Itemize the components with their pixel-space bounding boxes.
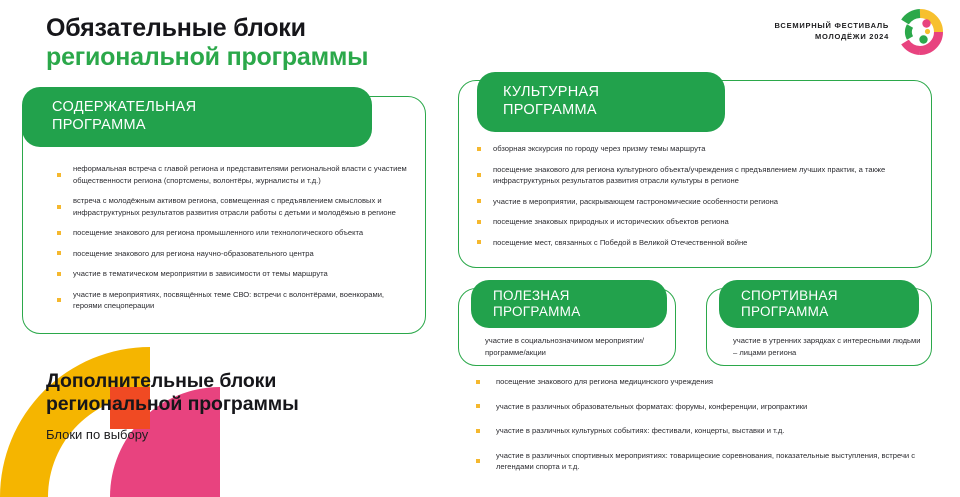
- bullet-square-icon: [477, 240, 481, 244]
- bullet-square-icon: [476, 459, 480, 463]
- card-title-poleznaya: ПОЛЕЗНАЯ ПРОГРАММА: [493, 288, 581, 321]
- bullet-square-icon: [476, 404, 480, 408]
- list-item: встреча с молодёжным активом региона, со…: [55, 195, 407, 218]
- list-item: участие в различных образовательных форм…: [470, 401, 940, 413]
- festival-logo-mark-icon: [896, 8, 944, 56]
- bullet-square-icon: [477, 173, 481, 177]
- list-soderzhatelnaya: неформальная встреча с главой региона и …: [55, 163, 407, 312]
- card-header-kulturnaya: КУЛЬТУРНАЯ ПРОГРАММА: [477, 72, 725, 132]
- bullet-square-icon: [477, 220, 481, 224]
- extra-title-line1: Дополнительные блоки: [46, 370, 299, 393]
- card-header-sportivnaya: СПОРТИВНАЯ ПРОГРАММА: [719, 280, 919, 328]
- bullet-square-icon: [476, 429, 480, 433]
- extra-title-line2: региональной программы: [46, 393, 299, 416]
- festival-logo-line2: МОЛОДЁЖИ 2024: [775, 32, 889, 43]
- festival-logo: ВСЕМИРНЫЙ ФЕСТИВАЛЬ МОЛОДЁЖИ 2024: [775, 8, 944, 56]
- festival-logo-text: ВСЕМИРНЫЙ ФЕСТИВАЛЬ МОЛОДЁЖИ 2024: [775, 21, 889, 42]
- list-item: неформальная встреча с главой региона и …: [55, 163, 407, 186]
- card-body-poleznaya: участие в социальнозначимом мероприятии/…: [485, 335, 663, 359]
- card-body-sportivnaya: участие в утренних зарядках с интересным…: [733, 335, 921, 359]
- card-header-poleznaya: ПОЛЕЗНАЯ ПРОГРАММА: [471, 280, 667, 328]
- list-item: посещение знакового для региона научно-о…: [55, 248, 407, 260]
- list-item: посещение знакового для региона медицинс…: [470, 376, 940, 388]
- page-title-line2: региональной программы: [46, 43, 368, 72]
- list-kulturnaya: обзорная экскурсия по городу через призм…: [475, 143, 915, 248]
- page-title: Обязательные блоки региональной программ…: [46, 14, 368, 71]
- extra-blocks-title: Дополнительные блоки региональной програ…: [46, 370, 299, 442]
- list-item: посещение мест, связанных с Победой в Ве…: [475, 237, 915, 249]
- bullet-square-icon: [57, 298, 61, 302]
- list-item: посещение знаковых природных и историчес…: [475, 216, 915, 228]
- bullet-square-icon: [57, 251, 61, 255]
- list-extra-blocks: посещение знакового для региона медицинс…: [470, 376, 940, 486]
- list-item: участие в мероприятиях, посвящённых теме…: [55, 289, 407, 312]
- card-title-soderzhatelnaya: СОДЕРЖАТЕЛЬНАЯ ПРОГРАММА: [52, 99, 196, 134]
- list-item: обзорная экскурсия по городу через призм…: [475, 143, 915, 155]
- list-item: участие в мероприятии, раскрывающем гаст…: [475, 196, 915, 208]
- bullet-square-icon: [477, 147, 481, 151]
- card-header-soderzhatelnaya: СОДЕРЖАТЕЛЬНАЯ ПРОГРАММА: [22, 87, 372, 147]
- list-item: посещение знакового для региона культурн…: [475, 164, 915, 187]
- list-item: участие в различных спортивных мероприят…: [470, 450, 940, 473]
- bullet-square-icon: [476, 380, 480, 384]
- list-item: участие в различных культурных событиях:…: [470, 425, 940, 437]
- card-soderzhatelnaya-programma: СОДЕРЖАТЕЛЬНАЯ ПРОГРАММА неформальная вс…: [22, 96, 426, 334]
- bullet-square-icon: [477, 199, 481, 203]
- page-title-line1: Обязательные блоки: [46, 14, 368, 43]
- list-item: посещение знакового для региона промышле…: [55, 227, 407, 239]
- festival-logo-line1: ВСЕМИРНЫЙ ФЕСТИВАЛЬ: [775, 21, 889, 32]
- card-title-kulturnaya: КУЛЬТУРНАЯ ПРОГРАММА: [503, 84, 599, 119]
- bullet-square-icon: [57, 173, 61, 177]
- card-title-sportivnaya: СПОРТИВНАЯ ПРОГРАММА: [741, 288, 838, 321]
- bullet-square-icon: [57, 205, 61, 209]
- list-item: участие в тематическом мероприятии в зав…: [55, 268, 407, 280]
- bullet-square-icon: [57, 231, 61, 235]
- card-sportivnaya-programma: СПОРТИВНАЯ ПРОГРАММА участие в утренних …: [706, 288, 932, 366]
- extra-subtitle: Блоки по выбору: [46, 427, 299, 442]
- card-kulturnaya-programma: КУЛЬТУРНАЯ ПРОГРАММА обзорная экскурсия …: [458, 80, 932, 268]
- bullet-square-icon: [57, 272, 61, 276]
- card-poleznaya-programma: ПОЛЕЗНАЯ ПРОГРАММА участие в социальнозн…: [458, 288, 676, 366]
- slide-root: Обязательные блоки региональной программ…: [0, 0, 960, 497]
